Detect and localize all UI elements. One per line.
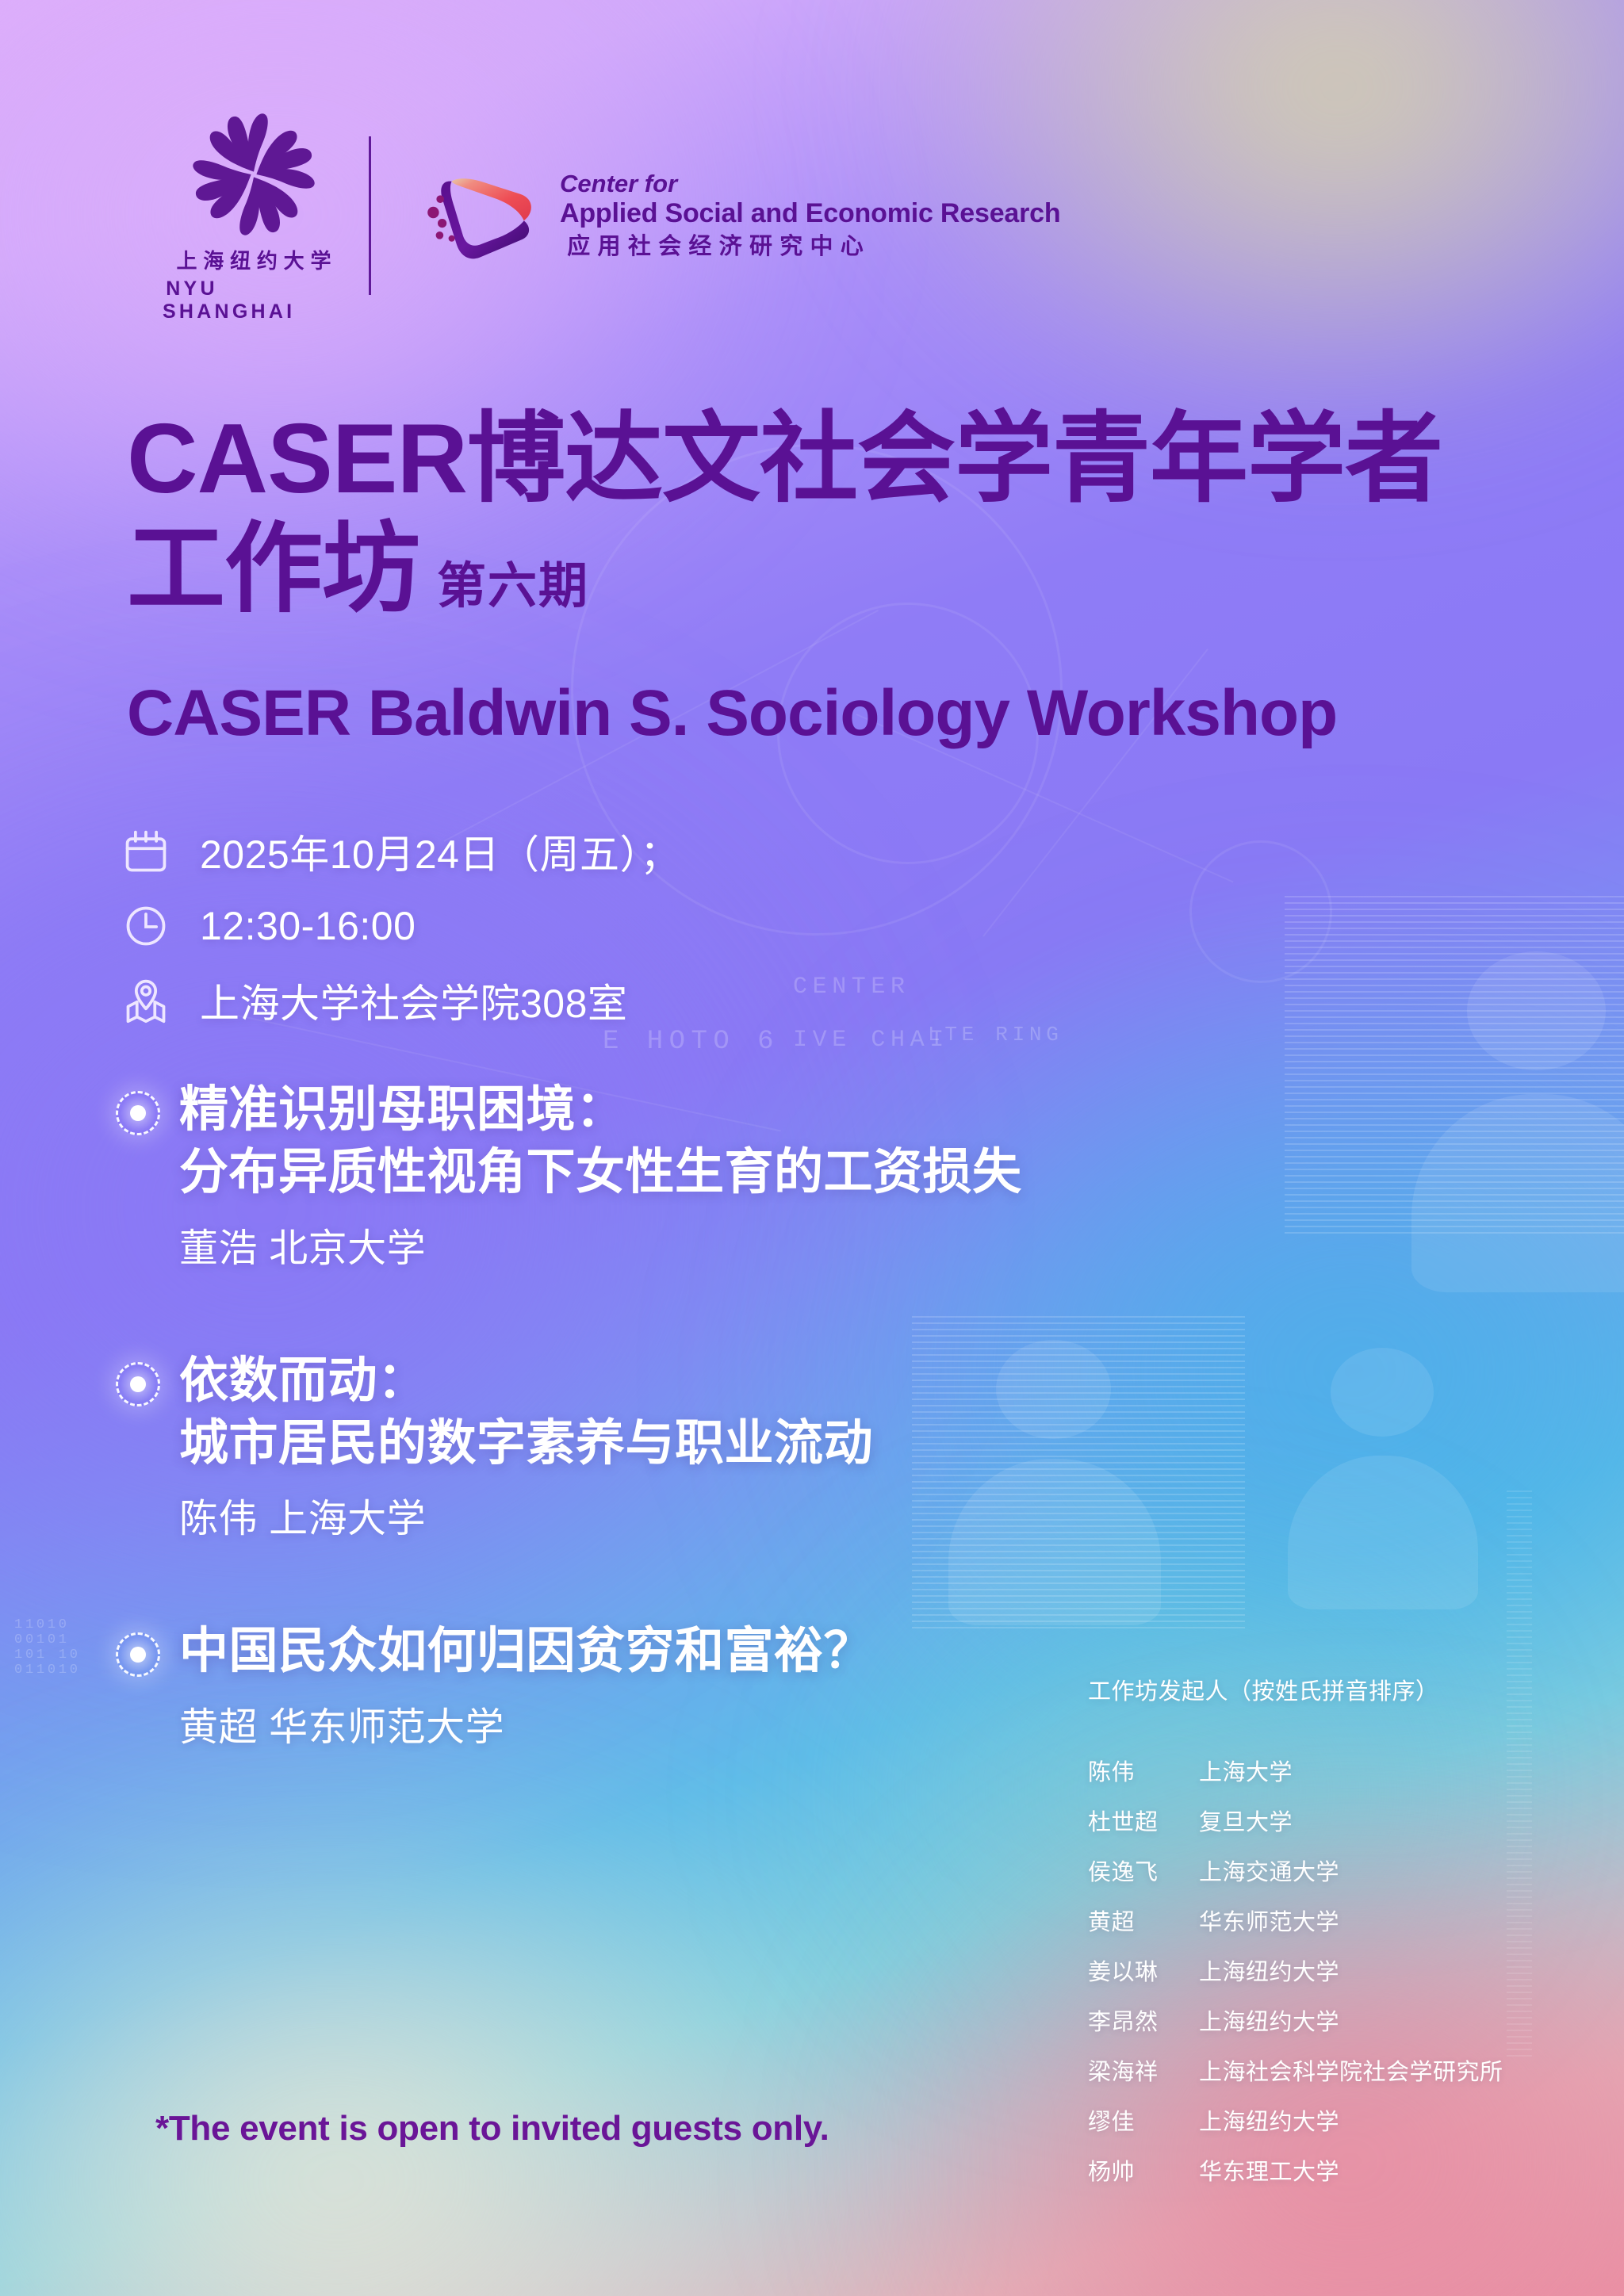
organizer-name: 黄超 [1088,1904,1199,1937]
vertical-divider-icon [369,136,371,295]
organizer-affiliation: 上海大学 [1199,1754,1580,1787]
logo-header: 上海纽约大学 NYU SHANGHAI [163,107,1060,323]
event-meta-time: 12:30-16:00 [121,901,680,951]
poster-episode-label: 第六期 [437,559,589,614]
organizer-row: 李昂然 上海纽约大学 [1088,2003,1580,2037]
organizer-name: 杜世超 [1088,1804,1199,1837]
poster-title-cn: CASER博达文社会学青年学者 工作坊第六期 [127,404,1570,625]
event-meta-date: 2025年10月24日（周五）； [121,823,680,880]
organizer-row: 缪佳 上海纽约大学 [1088,2103,1580,2137]
event-location-text: 上海大学社会学院308室 [200,972,627,1029]
organizer-affiliation: 上海交通大学 [1199,1854,1580,1887]
talk-title-line1: 依数而动： [179,1349,873,1412]
organizer-row: 姜以琳 上海纽约大学 [1088,1954,1580,1987]
poster-canvas: 1101000101101 10011010 E HOTO 6 CENTER I… [0,0,1624,2296]
dashed-circle-bullet-icon [116,1362,160,1406]
poster-title-en: CASER Baldwin S. Sociology Workshop [127,678,1618,749]
location-pin-map-icon [121,975,171,1026]
event-date-text: 2025年10月24日（周五）； [200,823,680,880]
organizer-affiliation: 上海社会科学院社会学研究所 [1199,2053,1580,2087]
organizer-heading: 工作坊发起人（按姓氏拼音排序） [1088,1673,1580,1706]
caser-ribbon-logo-icon [412,152,539,279]
organizer-row: 杨帅 华东理工大学 [1088,2153,1580,2187]
talk-item: 依数而动： 城市居民的数字素养与职业流动 陈伟 上海大学 [116,1349,1353,1544]
talk-list: 精准识别母职困境： 分布异质性视角下女性生育的工资损失 董浩 北京大学 依数而动… [116,1078,1353,1752]
organizer-name: 陈伟 [1088,1754,1199,1787]
talk-item: 精准识别母职困境： 分布异质性视角下女性生育的工资损失 董浩 北京大学 [116,1078,1353,1273]
caser-line-2: Applied Social and Economic Research [560,198,1060,229]
talk-title-line1: 精准识别母职困境： [179,1078,1022,1141]
talk-body: 精准识别母职困境： 分布异质性视角下女性生育的工资损失 董浩 北京大学 [179,1078,1022,1273]
poster-title-cn-line2: 工作坊 [127,515,419,624]
poster-title-cn-line2-wrap: 工作坊第六期 [127,515,1570,625]
nyu-name-en: NYU SHANGHAI [163,277,345,323]
organizer-name: 缪佳 [1088,2103,1199,2137]
poster-title-cn-line1: CASER博达文社会学青年学者 [127,404,1570,515]
event-meta-location: 上海大学社会学院308室 [121,972,680,1029]
organizer-name: 李昂然 [1088,2003,1199,2037]
talk-speaker: 董浩 北京大学 [179,1217,1022,1273]
caser-wordmark: Center for Applied Social and Economic R… [560,170,1060,260]
organizer-name: 梁海祥 [1088,2053,1199,2087]
organizer-list: 陈伟 上海大学 杜世超 复旦大学 侯逸飞 上海交通大学 黄超 华东师范大学 姜以… [1088,1754,1580,2187]
event-meta: 2025年10月24日（周五）； 12:30-16:00 上海大学社会学 [121,823,680,1029]
talk-body: 依数而动： 城市居民的数字素养与职业流动 陈伟 上海大学 [179,1349,873,1544]
organizer-row: 侯逸飞 上海交通大学 [1088,1854,1580,1887]
dashed-circle-bullet-icon [116,1091,160,1135]
caser-logo: Center for Applied Social and Economic R… [412,152,1060,279]
organizer-row: 陈伟 上海大学 [1088,1754,1580,1787]
nyu-name-cn: 上海纽约大学 [170,245,338,274]
organizer-affiliation: 上海纽约大学 [1199,2103,1580,2137]
footnote-text: *The event is open to invited guests onl… [155,2109,829,2149]
talk-title-line1: 中国民众如何归因贫穷和富裕？ [179,1620,873,1682]
organizer-affiliation: 华东理工大学 [1199,2153,1580,2187]
organizer-row: 杜世超 复旦大学 [1088,1804,1580,1837]
caser-line-3: 应用社会经济研究中心 [560,234,1060,261]
organizer-affiliation: 上海纽约大学 [1199,1954,1580,1987]
caser-line-1: Center for [560,170,1060,198]
talk-title-line2: 分布异质性视角下女性生育的工资损失 [179,1141,1022,1203]
organizer-affiliation: 上海纽约大学 [1199,2003,1580,2037]
nyu-shanghai-logo: 上海纽约大学 NYU SHANGHAI [163,107,345,323]
organizer-affiliation: 华东师范大学 [1199,1904,1580,1937]
talk-speaker: 陈伟 上海大学 [179,1487,873,1544]
clock-icon [121,901,171,951]
dashed-circle-bullet-icon [116,1632,160,1677]
talk-title-line2: 城市居民的数字素养与职业流动 [179,1412,873,1475]
organizer-row: 梁海祥 上海社会科学院社会学研究所 [1088,2053,1580,2087]
talk-speaker: 黄超 华东师范大学 [179,1696,873,1752]
organizer-name: 姜以琳 [1088,1954,1199,1987]
event-time-text: 12:30-16:00 [200,903,416,949]
organizer-name: 侯逸飞 [1088,1854,1199,1887]
talk-body: 中国民众如何归因贫穷和富裕？ 黄超 华东师范大学 [179,1620,873,1751]
calendar-icon [121,826,171,877]
organizer-affiliation: 复旦大学 [1199,1804,1580,1837]
nyu-shanghai-flower-logo-icon [186,107,321,242]
organizer-row: 黄超 华东师范大学 [1088,1904,1580,1937]
organizer-panel: 工作坊发起人（按姓氏拼音排序） 陈伟 上海大学 杜世超 复旦大学 侯逸飞 上海交… [1088,1673,1580,2187]
organizer-name: 杨帅 [1088,2153,1199,2187]
